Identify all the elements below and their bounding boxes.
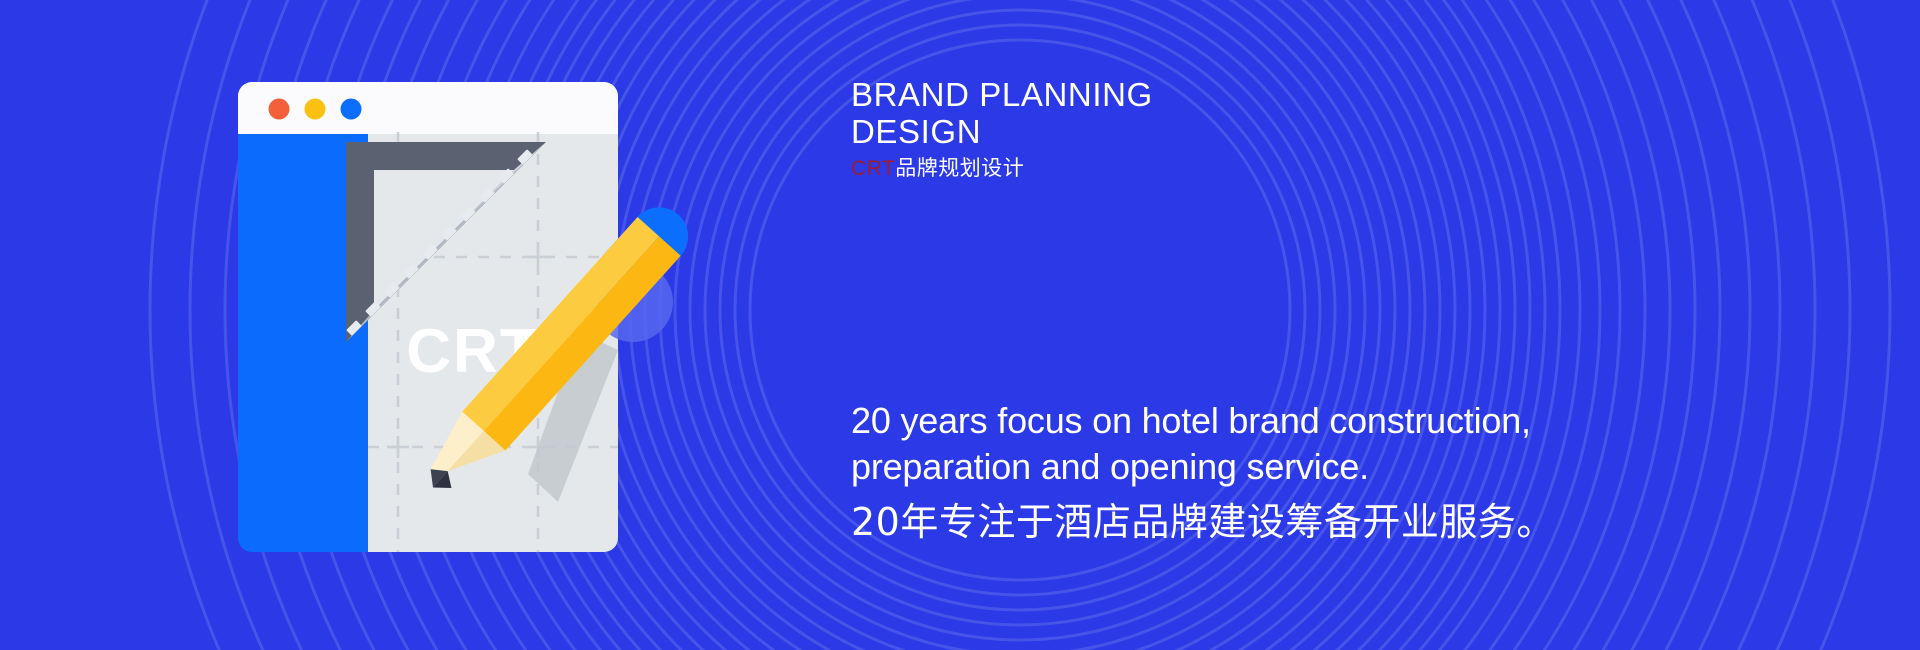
- window-traffic-lights: [269, 99, 362, 120]
- tagline-english: 20 years focus on hotel brand constructi…: [851, 398, 1851, 490]
- close-dot: [269, 99, 290, 120]
- maximize-dot: [341, 99, 362, 120]
- tagline-block: 20 years focus on hotel brand constructi…: [851, 398, 1851, 548]
- page-title: BRAND PLANNING DESIGN: [851, 76, 1751, 150]
- page-subtitle: CRT品牌规划设计: [851, 156, 1751, 182]
- brand-design-illustration: CRT: [228, 82, 648, 552]
- brand-banner: CRT: [0, 0, 1920, 650]
- page-subtitle-cn: 品牌规划设计: [895, 157, 1024, 180]
- tagline-chinese: 20年专注于酒店品牌建设筹备开业服务。: [851, 496, 1851, 548]
- headline-block: BRAND PLANNING DESIGN CRT品牌规划设计: [851, 76, 1751, 182]
- minimize-dot: [305, 99, 326, 120]
- brand-name: CRT: [851, 157, 895, 180]
